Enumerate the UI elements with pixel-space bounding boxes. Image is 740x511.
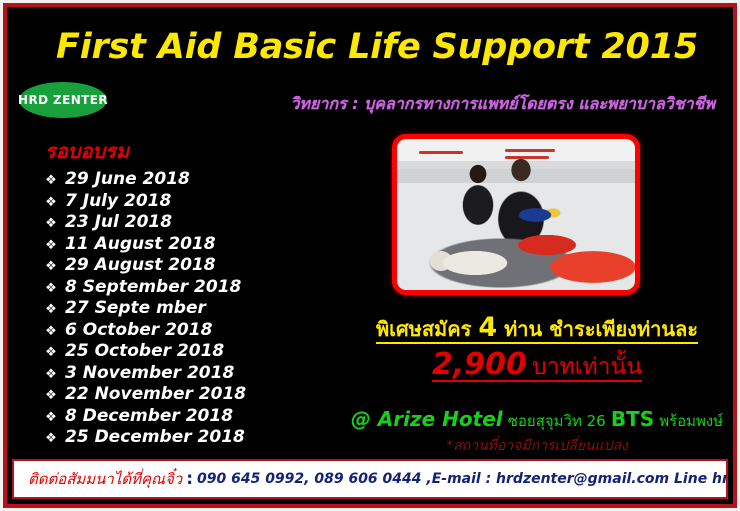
speaker-line: วิทยากร : บุคลากรทางการแพทย์โดยตรง และพย… — [290, 92, 715, 117]
diamond-bullet-icon: ❖ — [37, 345, 65, 360]
list-item: ❖ 22 November 2018 — [37, 384, 337, 406]
date-label: 7 July 2018 — [65, 191, 171, 211]
date-label: 6 October 2018 — [65, 320, 212, 340]
venue-station: พร้อมพงษ์ — [659, 412, 723, 430]
date-label: 29 August 2018 — [65, 255, 216, 275]
list-item: ❖ 3 November 2018 — [37, 363, 337, 385]
list-item: ❖ 29 June 2018 — [37, 169, 337, 191]
price-amount: 2,900 — [432, 347, 527, 382]
diamond-bullet-icon: ❖ — [37, 388, 65, 403]
list-item: ❖ 27 Septe mber — [37, 298, 337, 320]
schedule-heading: รอบอบรม — [45, 135, 129, 167]
diamond-bullet-icon: ❖ — [37, 259, 65, 274]
contact-thai-label: ติดต่อสัมมนาได้ที่คุณจิ๋ว — [28, 467, 182, 491]
page-title: First Aid Basic Life Support 2015 — [7, 27, 737, 67]
photo-slide-accent — [419, 151, 463, 154]
venue-change-note: *สถานที่อาจมีการเปลี่ยนแปลง — [327, 435, 737, 457]
training-photo-image — [397, 139, 635, 290]
promo-suffix: ท่าน ชำระเพียงท่านละ — [504, 317, 698, 341]
date-label: 8 December 2018 — [65, 406, 233, 426]
venue-bts-label: BTS — [611, 407, 654, 431]
poster-frame: First Aid Basic Life Support 2015 HRD ZE… — [3, 3, 737, 508]
venue-line: @ Arize Hotel ซอยสุจุมวิท 26 BTS พร้อมพง… — [327, 407, 737, 433]
diamond-bullet-icon: ❖ — [37, 238, 65, 253]
venue-soi: ซอยสุจุมวิท 26 — [508, 412, 606, 430]
list-item: ❖ 23 Jul 2018 — [37, 212, 337, 234]
list-item: ❖ 29 August 2018 — [37, 255, 337, 277]
date-label: 23 Jul 2018 — [65, 212, 172, 232]
promotion-line: พิเศษสมัคร 4 ท่าน ชำระเพียงท่านละ — [337, 312, 737, 345]
diamond-bullet-icon: ❖ — [37, 302, 65, 317]
date-label: 27 Septe mber — [65, 298, 206, 318]
contact-details: 090 645 0992, 089 606 0444 ,E-mail : hrd… — [197, 471, 728, 487]
date-label: 22 November 2018 — [65, 384, 246, 404]
list-item: ❖ 6 October 2018 — [37, 320, 337, 342]
date-label: 11 August 2018 — [65, 234, 216, 254]
list-item: ❖ 7 July 2018 — [37, 191, 337, 213]
date-label: 29 June 2018 — [65, 169, 190, 189]
diamond-bullet-icon: ❖ — [37, 281, 65, 296]
price-unit: บาทเท่านั้น — [532, 354, 642, 380]
date-label: 25 October 2018 — [65, 341, 224, 361]
date-label: 25 December 2018 — [65, 427, 245, 447]
date-label: 8 September 2018 — [65, 277, 241, 297]
photo-slide-accent — [505, 149, 555, 152]
diamond-bullet-icon: ❖ — [37, 431, 65, 446]
diamond-bullet-icon: ❖ — [37, 216, 65, 231]
list-item: ❖ 25 October 2018 — [37, 341, 337, 363]
contact-separator: : — [182, 469, 197, 489]
logo-label: HRD ZENTER — [18, 93, 108, 107]
list-item: ❖ 8 December 2018 — [37, 406, 337, 428]
list-item: ❖ 11 August 2018 — [37, 234, 337, 256]
date-label: 3 November 2018 — [65, 363, 234, 383]
venue-name: @ Arize Hotel — [351, 407, 503, 431]
diamond-bullet-icon: ❖ — [37, 324, 65, 339]
price-line: 2,900 บาทเท่านั้น — [337, 347, 737, 385]
schedule-date-list: ❖ 29 June 2018 ❖ 7 July 2018 ❖ 23 Jul 20… — [37, 169, 337, 449]
diamond-bullet-icon: ❖ — [37, 195, 65, 210]
list-item: ❖ 8 September 2018 — [37, 277, 337, 299]
list-item: ❖ 25 December 2018 — [37, 427, 337, 449]
photo-slide-accent — [505, 156, 549, 159]
hrd-zenter-logo: HRD ZENTER — [19, 82, 107, 118]
training-photo — [392, 134, 640, 295]
promo-quantity: 4 — [478, 312, 497, 343]
contact-bar: ติดต่อสัมมนาได้ที่คุณจิ๋ว : 090 645 0992… — [12, 459, 728, 499]
diamond-bullet-icon: ❖ — [37, 410, 65, 425]
poster-root: First Aid Basic Life Support 2015 HRD ZE… — [0, 0, 740, 511]
promo-prefix: พิเศษสมัคร — [376, 317, 471, 341]
diamond-bullet-icon: ❖ — [37, 367, 65, 382]
diamond-bullet-icon: ❖ — [37, 173, 65, 188]
